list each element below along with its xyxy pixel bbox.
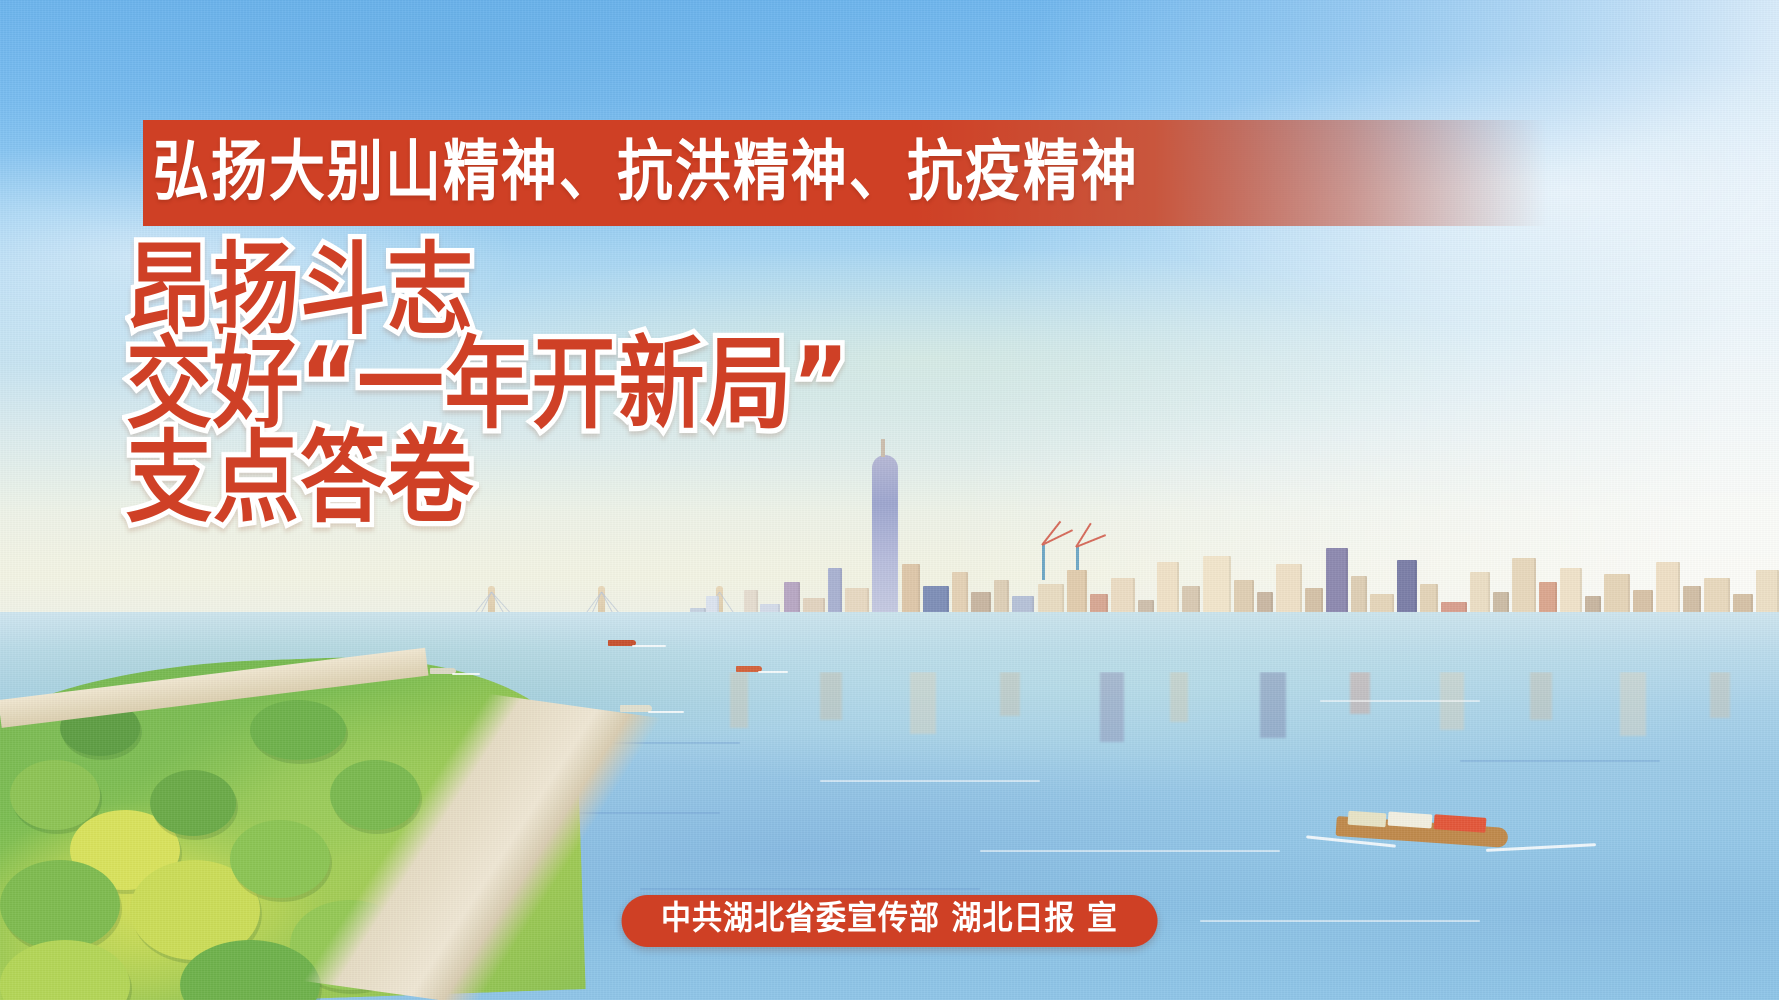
ferry-boat-c (620, 700, 660, 714)
cargo-boat (1336, 800, 1536, 846)
poster-canvas: 弘扬大别山精神、抗洪精神、抗疫精神 昂扬斗志 交好“一年开新局” 支点答卷 中共… (0, 0, 1779, 1000)
publisher-badge: 中共湖北省委宣传部 湖北日报 宣 (621, 895, 1158, 947)
slogan-banner-text: 弘扬大别山精神、抗洪精神、抗疫精神 (143, 140, 1139, 206)
headline-line-2: 交好“一年开新局” (126, 335, 850, 435)
ferry-boat-a (608, 636, 644, 648)
headline-line-3: 支点答卷 (126, 429, 850, 529)
headline-line-1: 昂扬斗志 (126, 241, 850, 341)
publisher-badge-text: 中共湖北省委宣传部 湖北日报 宣 (661, 903, 1118, 936)
page-title: 昂扬斗志 交好“一年开新局” 支点答卷 (126, 248, 850, 522)
ferry-boat-d (430, 664, 464, 676)
slogan-banner: 弘扬大别山精神、抗洪精神、抗疫精神 (143, 120, 1547, 226)
riverside-promenade (230, 664, 669, 1000)
water-reflections (700, 672, 1779, 762)
ferry-boat-b (736, 662, 770, 674)
